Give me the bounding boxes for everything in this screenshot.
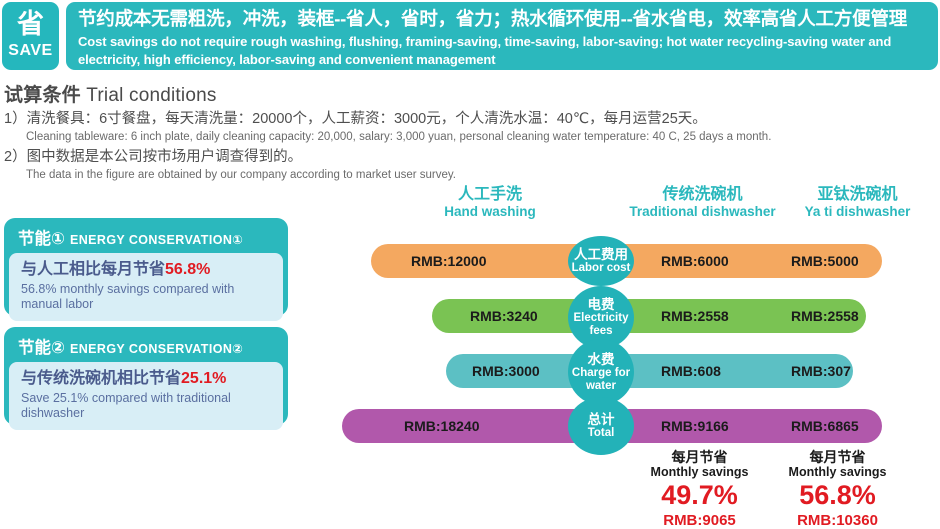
chart-column-header-hand-washing: 人工手洗 Hand washing — [400, 186, 580, 221]
bar-1-value-1: RMB:2558 — [661, 299, 729, 333]
savings-1-cn: 每月节省 — [750, 449, 925, 465]
row-label-0-en: Labor cost — [572, 262, 631, 275]
condition-2-cn: 2）图中数据是本公司按市场用户调查得到的。 — [4, 148, 940, 168]
trial-title-en: Trial conditions — [86, 85, 216, 106]
chart-column-header-yati: 亚钛洗碗机 Ya ti dishwasher — [775, 186, 940, 221]
bar-3-value-1: RMB:9166 — [661, 409, 729, 443]
row-label-2-en: Charge for water — [568, 367, 634, 392]
bar-0-value-1: RMB:6000 — [661, 244, 729, 278]
condition-1-marker: 1） — [4, 111, 27, 127]
condition-item: 1）清洗餐具：6寸餐盘，每天清洗量：20000个，人工薪资：3000元，个人清洗… — [4, 110, 940, 145]
bar-0-value-2: RMB:5000 — [791, 244, 859, 278]
header-banner: 省 SAVE 节约成本无需粗洗，冲洗，装框--省人，省时，省力；热水循环使用--… — [0, 2, 940, 72]
bar-1-value-2: RMB:2558 — [791, 299, 859, 333]
banner-headline-en-line2: electricity, high efficiency, labor-savi… — [78, 51, 928, 69]
col-head-2-cn: 亚钛洗碗机 — [775, 186, 940, 204]
chart-row-label-total: 总计 Total — [568, 397, 634, 455]
condition-2-en: The data in the figure are obtained by o… — [4, 168, 940, 184]
savings-1-rmb: RMB:10360 — [750, 512, 925, 529]
chart-bar-electricity-fees: RMB:3240 RMB:2558 RMB:2558 — [432, 299, 866, 333]
bar-2-value-2: RMB:307 — [791, 354, 851, 388]
banner-headline-en-line1: Cost savings do not require rough washin… — [78, 33, 928, 51]
chart-row-label-charge-for-water: 水费 Charge for water — [568, 339, 634, 405]
banner-body: 节约成本无需粗洗，冲洗，装框--省人，省时，省力；热水循环使用--省水省电，效率… — [66, 2, 938, 70]
col-head-0-cn: 人工手洗 — [400, 186, 580, 204]
col-head-0-en: Hand washing — [400, 204, 580, 220]
save-badge-cn: 省 — [17, 11, 44, 38]
monthly-savings-yati: 每月节省 Monthly savings 56.8% RMB:10360 — [750, 449, 925, 529]
banner-headline-cn: 节约成本无需粗洗，冲洗，装框--省人，省时，省力；热水循环使用--省水省电，效率… — [78, 7, 928, 32]
bar-0-value-0: RMB:12000 — [411, 244, 486, 278]
row-label-1-en: Electricity fees — [568, 312, 634, 337]
row-label-3-cn: 总计 — [588, 412, 615, 427]
row-label-0-cn: 人工费用 — [574, 247, 628, 262]
bar-3-value-2: RMB:6865 — [791, 409, 859, 443]
col-head-2-en: Ya ti dishwasher — [775, 204, 940, 220]
bar-3-value-0: RMB:18240 — [404, 409, 479, 443]
save-badge: 省 SAVE — [2, 2, 59, 70]
chart-bar-charge-for-water: RMB:3000 RMB:608 RMB:307 — [446, 354, 853, 388]
savings-1-pct: 56.8% — [750, 480, 925, 512]
trial-title-cn: 试算条件 — [4, 85, 81, 106]
condition-item: 2）图中数据是本公司按市场用户调查得到的。 The data in the fi… — [4, 148, 940, 183]
row-label-1-cn: 电费 — [588, 297, 615, 312]
condition-1-cn: 1）清洗餐具：6寸餐盘，每天清洗量：20000个，人工薪资：3000元，个人清洗… — [4, 110, 940, 130]
savings-1-en: Monthly savings — [750, 465, 925, 480]
bar-2-value-0: RMB:3000 — [472, 354, 540, 388]
condition-2-cn-text: 图中数据是本公司按市场用户调查得到的。 — [27, 149, 303, 165]
condition-1-en: Cleaning tableware: 6 inch plate, daily … — [4, 130, 940, 146]
bar-2-value-1: RMB:608 — [661, 354, 721, 388]
trial-conditions-title: 试算条件 Trial conditions — [4, 80, 940, 107]
condition-2-marker: 2） — [4, 149, 27, 165]
row-label-2-cn: 水费 — [588, 352, 615, 367]
bar-1-value-0: RMB:3240 — [470, 299, 538, 333]
condition-1-cn-text: 清洗餐具：6寸餐盘，每天清洗量：20000个，人工薪资：3000元，个人清洗水温… — [27, 111, 707, 127]
cost-comparison-chart: 人工手洗 Hand washing 传统洗碗机 Traditional dish… — [0, 186, 940, 518]
save-badge-en: SAVE — [8, 41, 52, 60]
trial-conditions-section: 试算条件 Trial conditions 1）清洗餐具：6寸餐盘，每天清洗量：… — [4, 80, 940, 183]
row-label-3-en: Total — [588, 427, 615, 440]
chart-row-label-labor-cost: 人工费用 Labor cost — [568, 236, 634, 286]
